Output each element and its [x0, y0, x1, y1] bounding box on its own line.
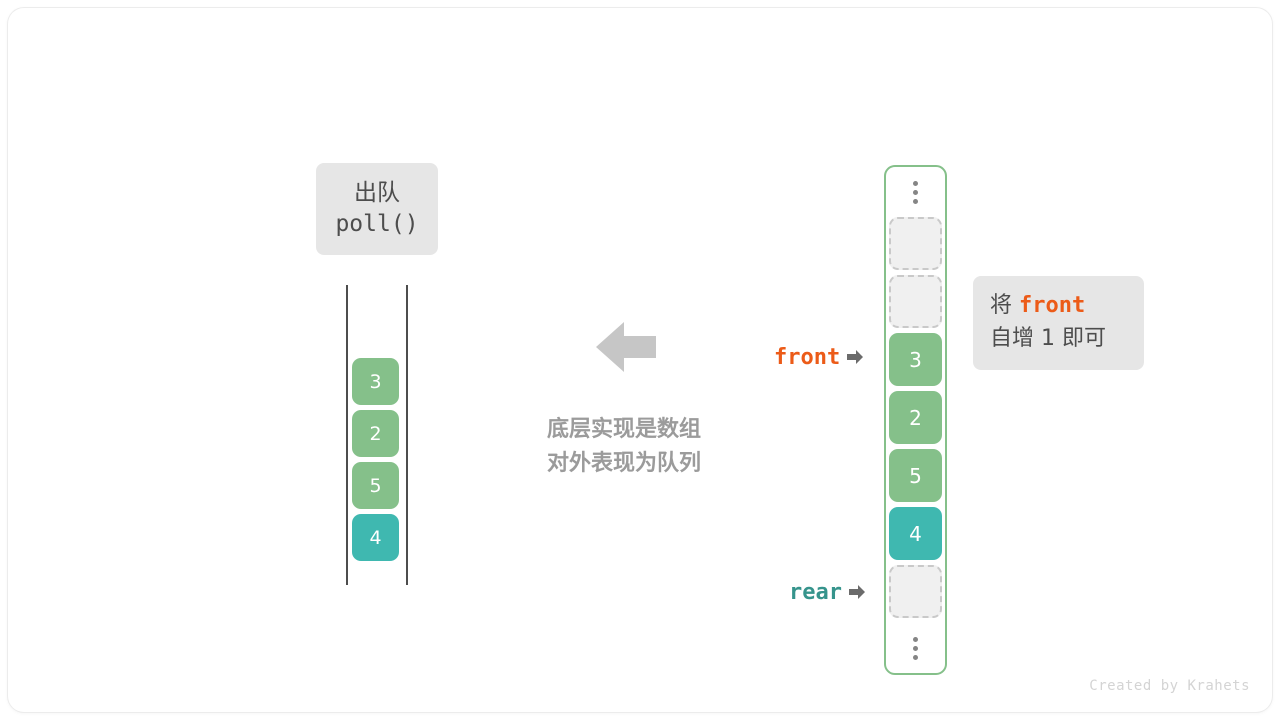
stack-cell: 4: [352, 514, 399, 561]
pointer-front-text: front: [774, 345, 840, 370]
operation-label-chinese: 出队: [354, 179, 400, 208]
center-caption-line-2: 对外表现为队列: [514, 447, 734, 481]
array-cell-empty: [889, 217, 942, 270]
center-caption-line-1: 底层实现是数组: [514, 413, 734, 447]
credit-text: Created by Krahets: [1089, 678, 1250, 694]
flow-arrow-left-icon: [596, 320, 656, 374]
stack-cell: 2: [352, 410, 399, 457]
pointer-label-rear: rear: [789, 580, 865, 605]
pointer-label-front: front: [774, 345, 863, 370]
stack-cell: 3: [352, 358, 399, 405]
note-line-1: 将 front: [990, 292, 1085, 321]
diagram-canvas: 出队 poll() 3254 底层实现是数组 对外表现为队列 3254 fron…: [0, 0, 1280, 720]
array-cell: 5: [889, 449, 942, 502]
array-bottom-ellipsis-icon: [913, 623, 918, 673]
stack-rail-left: [346, 285, 348, 585]
note-line-2: 自增 1 即可: [990, 325, 1106, 354]
array-top-ellipsis-icon: [913, 167, 918, 217]
stack-cell-list: 3254: [352, 358, 399, 566]
array-cell-empty: [889, 275, 942, 328]
operation-label-box: 出队 poll(): [316, 163, 438, 255]
note-prefix: 将: [990, 293, 1019, 318]
array-cell-list: 3254: [889, 217, 942, 623]
array-cell: 4: [889, 507, 942, 560]
stack-cell: 5: [352, 462, 399, 509]
center-caption: 底层实现是数组 对外表现为队列: [514, 413, 734, 481]
array-cell-empty: [889, 565, 942, 618]
pointer-rear-arrow-icon: [849, 582, 865, 604]
array-cell: 2: [889, 391, 942, 444]
front-increment-note-box: 将 front 自增 1 即可: [973, 276, 1144, 370]
operation-label-code: poll(): [335, 210, 418, 239]
array-container: 3254: [884, 165, 947, 675]
pointer-front-arrow-icon: [847, 347, 863, 369]
pointer-rear-text: rear: [789, 580, 842, 605]
stack-rail-right: [406, 285, 408, 585]
array-cell: 3: [889, 333, 942, 386]
note-accent-front: front: [1019, 293, 1085, 318]
